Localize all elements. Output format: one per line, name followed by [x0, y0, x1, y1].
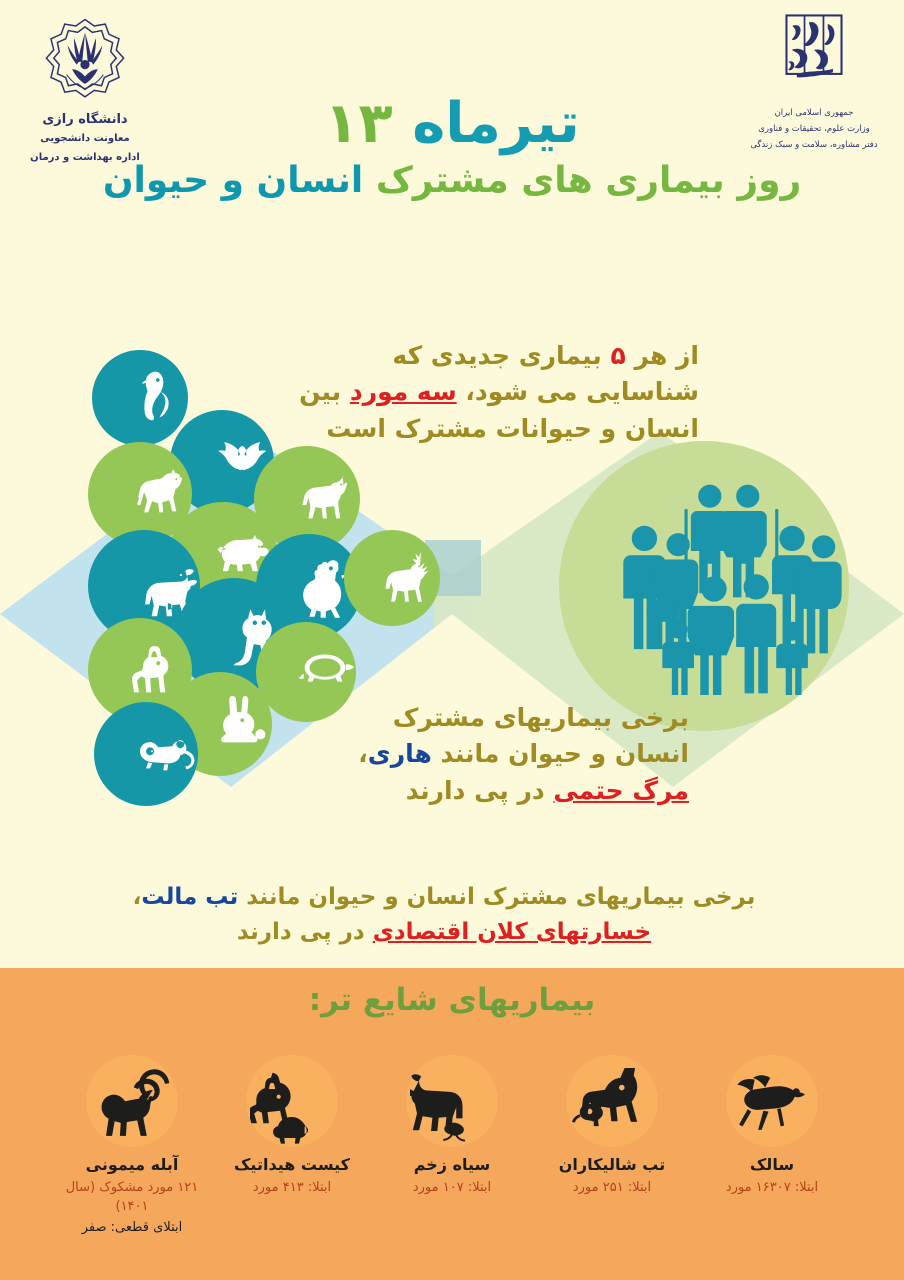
disease-stat: ابتلا: ۱۰۷ مورد: [372, 1179, 532, 1198]
disease-sun-circle: [246, 1055, 338, 1147]
disease-stat: ابتلا: ۲۵۱ مورد: [532, 1179, 692, 1198]
disease-sun-circle: [726, 1055, 818, 1147]
deer-icon: [344, 546, 440, 610]
disease-card: سالکابتلا: ۱۶۳۰۷ مورد: [692, 1055, 852, 1198]
poster-root: دانشگاه رازی معاونت دانشجویی اداره بهداش…: [0, 0, 904, 1280]
cow-fly-silhouette-icon: [400, 1061, 504, 1145]
statement-part: در پی دارند: [406, 776, 554, 805]
disease-name: سیاه زخم: [372, 1155, 532, 1174]
sandfly-silhouette-icon: [720, 1061, 824, 1145]
disease-name: آبله میمونی: [52, 1155, 212, 1174]
title-month: تیرماه: [412, 91, 579, 156]
statement-part: خسارتهای کلان اقتصادی: [373, 919, 651, 945]
disease-name: کیست هیداتیک: [212, 1155, 372, 1174]
title-subtitle-highlight: انسان و حیوان: [103, 160, 363, 201]
monkey-silhouette-icon: [80, 1061, 184, 1145]
disease-name: سالک: [692, 1155, 852, 1174]
humans-circle: [559, 441, 849, 731]
statement-part: از هر: [626, 341, 699, 370]
statement-part: برخی بیماریهای مشترک انسان و حیوان مانند: [238, 884, 755, 910]
disease-sun-circle: [566, 1055, 658, 1147]
common-diseases-heading: بیماریهای شایع تر:: [0, 982, 904, 1018]
disease-stat: ابتلا: ۴۱۳ مورد: [212, 1179, 372, 1198]
animal-circle-deer: [344, 530, 440, 626]
disease-stat: ابتلا: ۱۶۳۰۷ مورد: [692, 1179, 852, 1198]
common-diseases-row: آبله میمونی۱۲۱ مورد مشکوک (سال ۱۴۰۱)ابتل…: [0, 1055, 904, 1235]
disease-card: سیاه زخمابتلا: ۱۰۷ مورد: [372, 1055, 532, 1198]
statement-part: در پی دارند: [237, 919, 373, 945]
disease-sun-circle: [86, 1055, 178, 1147]
disease-card: آبله میمونی۱۲۱ مورد مشکوک (سال ۱۴۰۱)ابتل…: [52, 1055, 212, 1235]
title-subtitle-lead: روز بیماری های مشترک: [376, 160, 801, 201]
title-subtitle: روز بیماری های مشترک انسان و حیوان: [0, 160, 904, 201]
title-date-line: تیرماه ۱۳: [0, 96, 904, 152]
rat-icon: [94, 720, 198, 788]
dog-sheep-silhouette-icon: [240, 1061, 344, 1145]
statement-rabies-death: برخی بیماریهای مشترک انسان و حیوان مانند…: [339, 700, 689, 809]
statement-brucellosis-economic: برخی بیماریهای مشترک انسان و حیوان مانند…: [114, 880, 774, 949]
dog-rat-silhouette-icon: [560, 1061, 664, 1145]
statement-part: تب مالت: [141, 884, 238, 910]
statement-part: هاری: [368, 739, 432, 768]
disease-card: تب شالیکارانابتلا: ۲۵۱ مورد: [532, 1055, 692, 1198]
horse-icon: [88, 460, 192, 528]
statement-part: سه مورد: [350, 377, 457, 406]
statement-part: مرگ حتمی: [553, 776, 689, 805]
disease-stat: ۱۲۱ مورد مشکوک (سال ۱۴۰۱): [52, 1179, 212, 1217]
poster-title: تیرماه ۱۳ روز بیماری های مشترک انسان و ح…: [0, 96, 904, 201]
disease-stat-secondary: ابتلای قطعی: صفر: [52, 1220, 212, 1235]
disease-card: کیست هیداتیکابتلا: ۴۱۳ مورد: [212, 1055, 372, 1198]
statement-one-in-five: از هر ۵ بیماری جدیدی که شناسایی می شود، …: [279, 338, 699, 447]
statement-part: ،: [358, 739, 368, 768]
disease-name: تب شالیکاران: [532, 1155, 692, 1174]
statement-part: ۵: [610, 341, 625, 370]
parrot-icon: [92, 366, 188, 430]
title-day-number: ۱۳: [324, 91, 392, 156]
disease-sun-circle: [406, 1055, 498, 1147]
animal-circle-rat: [94, 702, 198, 806]
statement-part: برخی بیماریهای مشترک انسان و حیوان مانند: [393, 703, 689, 768]
family-people-icon: [559, 473, 849, 698]
